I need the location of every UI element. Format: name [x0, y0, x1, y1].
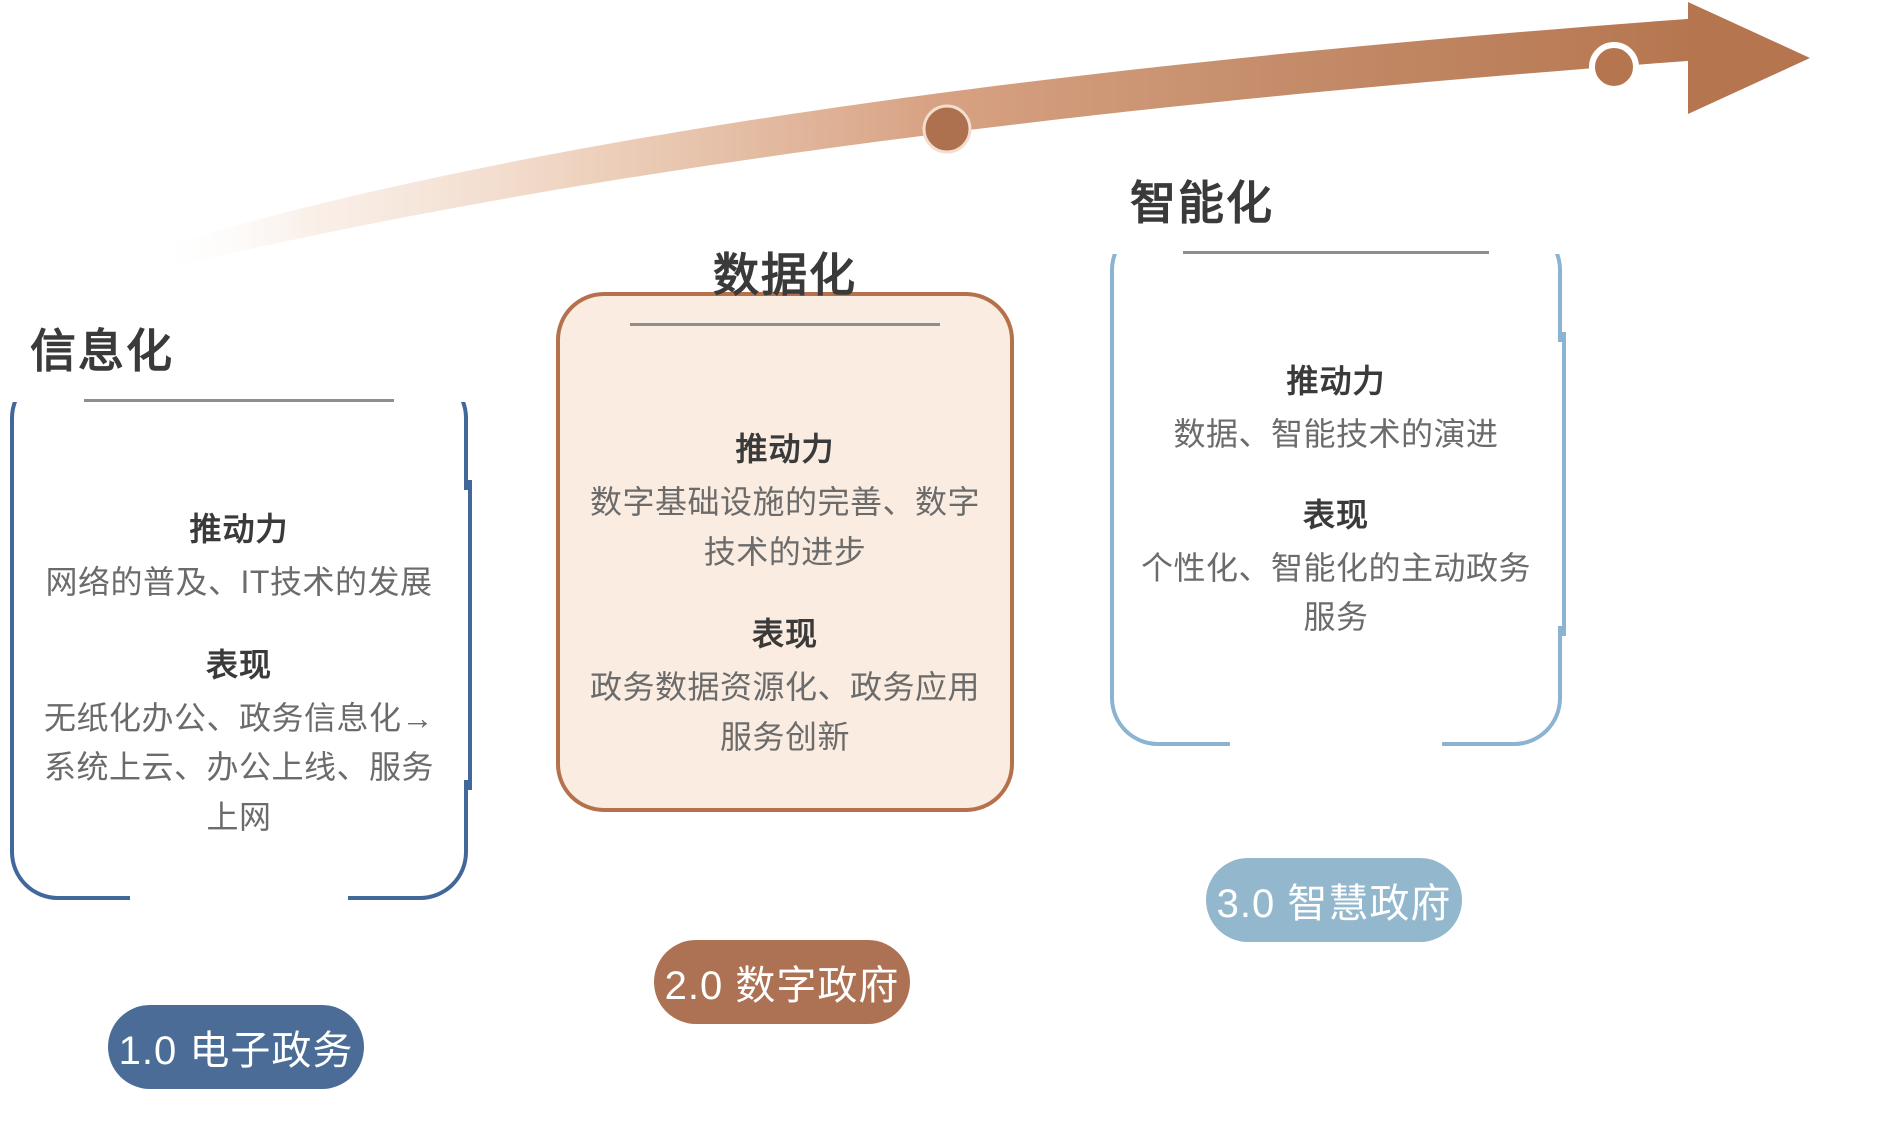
diagram-canvas: 信息化 推动力 网络的普及、IT技术的发展 表现 无纸化办公、政务信息化→系统上… [0, 0, 1898, 1138]
stage-card-3-section-1: 表现 个性化、智能化的主动政务服务 [1132, 490, 1540, 643]
stage-badge-3-label: 3.0 智慧政府 [1217, 871, 1452, 929]
stage-card-3[interactable]: 智能化 推动力 数据、智能技术的演进 表现 个性化、智能化的主动政务服务 [1110, 222, 1562, 746]
stage-card-3-body: 推动力 数据、智能技术的演进 表现 个性化、智能化的主动政务服务 [1110, 330, 1562, 643]
stage-badge-2-label: 2.0 数字政府 [665, 953, 900, 1011]
stage-badge-3[interactable]: 3.0 智慧政府 [1206, 858, 1462, 942]
stage-badge-2[interactable]: 2.0 数字政府 [654, 940, 910, 1024]
arrow-marker-ring [1592, 45, 1636, 89]
stage-card-2-section-1-text: 政务数据资源化、政务应用服务创新 [584, 663, 986, 762]
stage-card-1-section-1: 表现 无纸化办公、政务信息化→系统上云、办公上线、服务上网 [36, 640, 442, 843]
stage-card-3-section-0-text: 数据、智能技术的演进 [1132, 410, 1540, 460]
stage-card-2[interactable]: 数据化 推动力 数字基础设施的完善、数字技术的进步 表现 政务数据资源化、政务应… [556, 292, 1014, 812]
stage-badge-1-label: 1.0 电子政务 [119, 1018, 354, 1076]
bracket-corner-bottom-right [1442, 626, 1562, 746]
stage-badge-1[interactable]: 1.0 电子政务 [108, 1005, 364, 1089]
stage-card-2-title: 数据化 [560, 250, 1010, 301]
stage-card-3-section-1-text: 个性化、智能化的主动政务服务 [1132, 544, 1540, 643]
bracket-corner-bottom-left [1110, 626, 1230, 746]
stage-card-1-body: 推动力 网络的普及、IT技术的发展 表现 无纸化办公、政务信息化→系统上云、办公… [10, 478, 468, 842]
stage-card-2-section-1: 表现 政务数据资源化、政务应用服务创新 [584, 609, 986, 762]
stage-card-2-section-1-label: 表现 [584, 609, 986, 655]
stage-card-3-title-block: 智能化 [1110, 178, 1562, 254]
stage-card-1-title-rule [84, 399, 394, 402]
stage-card-2-section-0-text: 数字基础设施的完善、数字技术的进步 [584, 478, 986, 577]
stage-card-2-title-rule [630, 323, 940, 326]
stage-card-1-section-1-label: 表现 [36, 640, 442, 686]
stage-card-1-title: 信息化 [30, 326, 448, 377]
stage-card-1-section-0: 推动力 网络的普及、IT技术的发展 [36, 504, 442, 608]
arrow-head [1688, 2, 1810, 114]
stage-card-1-section-1-text: 无纸化办公、政务信息化→系统上云、办公上线、服务上网 [36, 694, 442, 843]
stage-card-3-section-1-label: 表现 [1132, 490, 1540, 536]
bracket-rail-right [1562, 332, 1566, 636]
stage-card-3-title: 智能化 [1130, 178, 1542, 229]
stage-card-2-title-block: 数据化 [560, 250, 1010, 326]
stage-card-3-section-0-label: 推动力 [1132, 356, 1540, 402]
bracket-rail-right [468, 480, 472, 790]
stage-card-1[interactable]: 信息化 推动力 网络的普及、IT技术的发展 表现 无纸化办公、政务信息化→系统上… [10, 370, 468, 900]
stage-card-2-section-0: 推动力 数字基础设施的完善、数字技术的进步 [584, 424, 986, 577]
stage-card-2-section-0-label: 推动力 [584, 424, 986, 470]
stage-card-1-section-0-label: 推动力 [36, 504, 442, 550]
stage-card-3-section-0: 推动力 数据、智能技术的演进 [1132, 356, 1540, 460]
stage-card-1-section-0-text: 网络的普及、IT技术的发展 [36, 558, 442, 608]
stage-card-2-body: 推动力 数字基础设施的完善、数字技术的进步 表现 政务数据资源化、政务应用服务创… [560, 398, 1010, 762]
arrow-marker-dot [924, 106, 970, 152]
stage-card-1-title-block: 信息化 [10, 326, 468, 402]
stage-card-3-title-rule [1183, 251, 1489, 254]
